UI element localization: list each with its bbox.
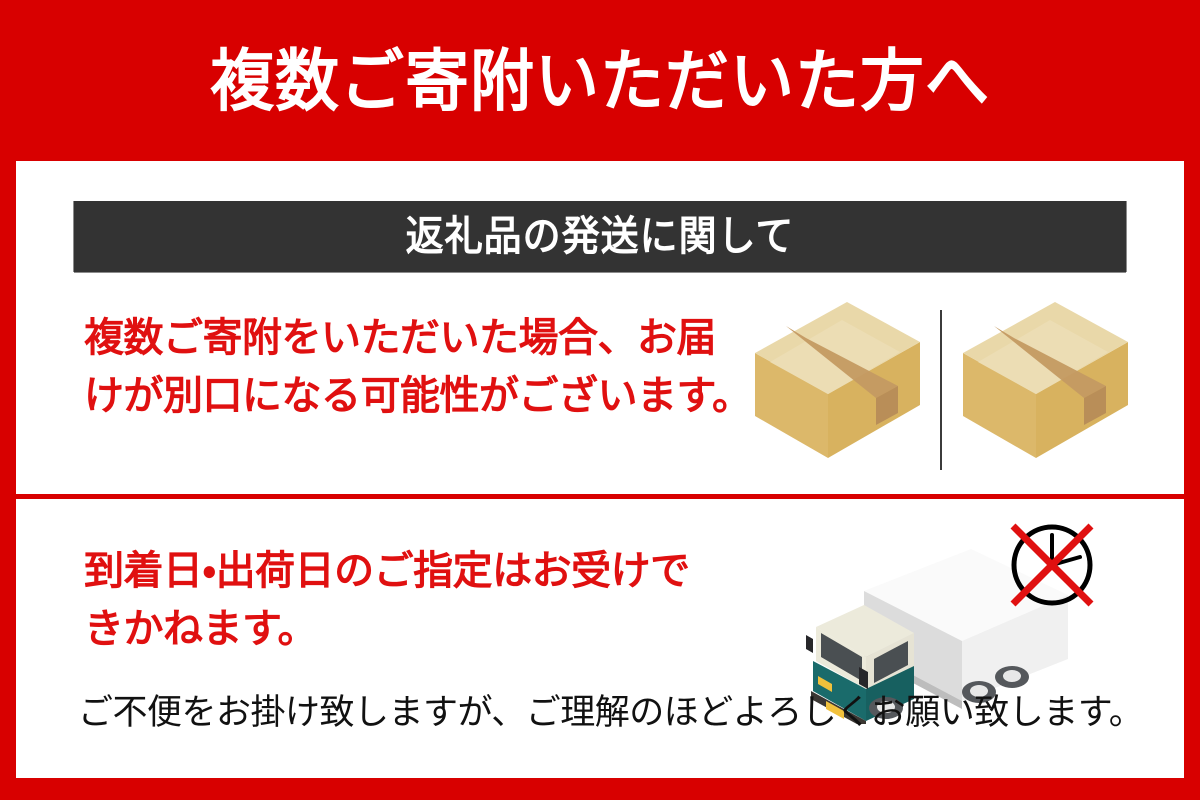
section2-line-1: 到着日・出荷日のご指定はお受けで xyxy=(84,541,690,601)
section2-paragraph: 到着日・出荷日のご指定はお受けで xyxy=(84,541,690,601)
cardboard-box-icon xyxy=(958,298,1133,458)
footer-note: ご不便をお掛け致しますが、ご理解のほどよろしくお願い致します。 xyxy=(78,695,1143,730)
section1-paragraph-line2: けが別口になる可能性がございます。 xyxy=(84,366,752,426)
vertical-divider-icon xyxy=(940,310,942,470)
section2-paragraph-line2: きかねます。 xyxy=(84,599,317,659)
section-shipping-separate: 複数ご寄附をいただいた場合、お届 けが別口になる可能性がございます。 xyxy=(16,286,1184,494)
header-bar: 複数ご寄附いただいた方へ xyxy=(0,0,1200,161)
promo-banner: 複数ご寄附いただいた方へ 返礼品の発送に関して 複数ご寄附をいただいた場合、お届… xyxy=(0,0,1200,800)
section2-line-1-plain: 到着日・出荷日のご指定は xyxy=(84,549,532,593)
section1-line-1-text: 複数ご寄附をいただいた場合、お届 xyxy=(84,308,716,368)
cardboard-box-icon xyxy=(750,298,925,458)
section1-paragraph: 複数ご寄附をいただいた場合、お届 xyxy=(84,308,716,368)
content-area: 返礼品の発送に関して 複数ご寄附をいただいた場合、お届 けが別口になる可能性がご… xyxy=(16,161,1184,778)
subsection-banner: 返礼品の発送に関して xyxy=(74,201,1126,272)
section2-line-2-highlight: きかねます。 xyxy=(84,599,317,659)
section1-line-1: 複数ご寄附をいただいた場合、お届 xyxy=(84,308,716,368)
section2-line-2: きかねます。 xyxy=(84,599,317,659)
section1-line-2-highlight: けが別口になる xyxy=(84,366,361,426)
truck-illustration xyxy=(796,509,1156,724)
page-title: 複数ご寄附いただいた方へ xyxy=(210,47,990,115)
section2-line-1-highlight: お受けで xyxy=(532,541,690,601)
section1-line-2: けが別口になる可能性がございます。 xyxy=(84,366,752,426)
boxes-illustration xyxy=(740,298,1180,483)
section-no-date-designation: 到着日・出荷日のご指定はお受けで きかねます。 xyxy=(16,499,1184,778)
no-time-designation-icon xyxy=(1004,517,1100,613)
subsection-title: 返礼品の発送に関して xyxy=(406,216,795,257)
section1-line-2-tail: 可能性がございます。 xyxy=(361,374,752,418)
